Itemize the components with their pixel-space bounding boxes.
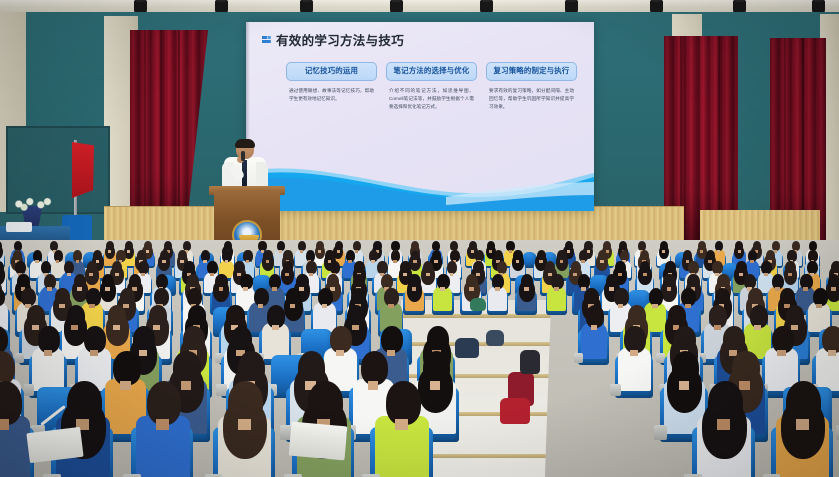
slide-card-body: 介绍不同的笔记方法，如思维导图、Cornell笔记法等，并鼓励学生根据个人需要选…: [386, 87, 477, 111]
auditorium-photo: 有效的学习方法与技巧 记忆技巧的运用 通过使用联想、故事法等记忆技巧，帮助学生更…: [0, 0, 839, 477]
audience-member: [580, 305, 611, 363]
slide-card: 记忆技巧的运用 通过使用联想、故事法等记忆技巧，帮助学生更有效地记忆知识。: [286, 62, 377, 103]
backpack: [486, 330, 504, 346]
seat-armrest: [654, 425, 668, 440]
slide-title: 有效的学习方法与技巧: [276, 30, 404, 49]
backpack: [470, 298, 486, 311]
slide-card: 复习策略的制定与执行 要求有效的复习策略，如分配间隔、主动回忆等，帮助学生巩固所…: [486, 62, 577, 111]
backpack: [455, 338, 479, 358]
slide-card-body: 要求有效的复习策略，如分配间隔、主动回忆等，帮助学生巩固所学知识并提高学习效果。: [486, 87, 577, 111]
slide-card-group: 记忆技巧的运用 通过使用联想、故事法等记忆技巧，帮助学生更有效地记忆知识。 笔记…: [286, 62, 578, 111]
slide-card: 笔记方法的选择与优化 介绍不同的笔记方法，如思维导图、Cornell笔记法等，并…: [386, 62, 477, 111]
audience-member: [617, 326, 655, 396]
audience-member: [404, 274, 426, 314]
microphone: [241, 151, 245, 161]
backpack: [500, 398, 530, 424]
ceiling-light-strip: [0, 0, 839, 7]
wainscot-panel: [104, 206, 684, 242]
stacked-squares-icon: [262, 36, 271, 44]
presenter: [222, 140, 268, 192]
stage-papers: [6, 222, 32, 232]
slide-card-heading: 记忆技巧的运用: [286, 62, 377, 81]
audience-member: [696, 381, 758, 477]
audience-member: [433, 274, 455, 314]
audience-member: [488, 274, 510, 314]
slide-wave-graphic: [246, 149, 594, 211]
slide-title-row: 有效的学习方法与技巧: [262, 30, 404, 49]
slide-card-heading: 复习策略的制定与执行: [486, 62, 577, 81]
slide-card-heading: 笔记方法的选择与优化: [386, 62, 477, 81]
seat-armrest: [610, 384, 621, 396]
slide-card-body: 通过使用联想、故事法等记忆技巧，帮助学生更有效地记忆知识。: [286, 87, 377, 103]
seat-armrest: [574, 353, 583, 363]
projection-screen: 有效的学习方法与技巧 记忆技巧的运用 通过使用联想、故事法等记忆技巧，帮助学生更…: [246, 22, 594, 211]
wainscot-panel-right: [700, 210, 820, 244]
audience-member: [775, 381, 837, 477]
red-flag: [72, 142, 94, 198]
audience-member: [374, 381, 436, 477]
audience-member: [516, 274, 538, 314]
backpack: [520, 350, 540, 374]
audience-member: [135, 381, 197, 477]
audience-member: [547, 274, 569, 314]
audience-member: [216, 381, 278, 477]
notebook: [289, 422, 348, 461]
